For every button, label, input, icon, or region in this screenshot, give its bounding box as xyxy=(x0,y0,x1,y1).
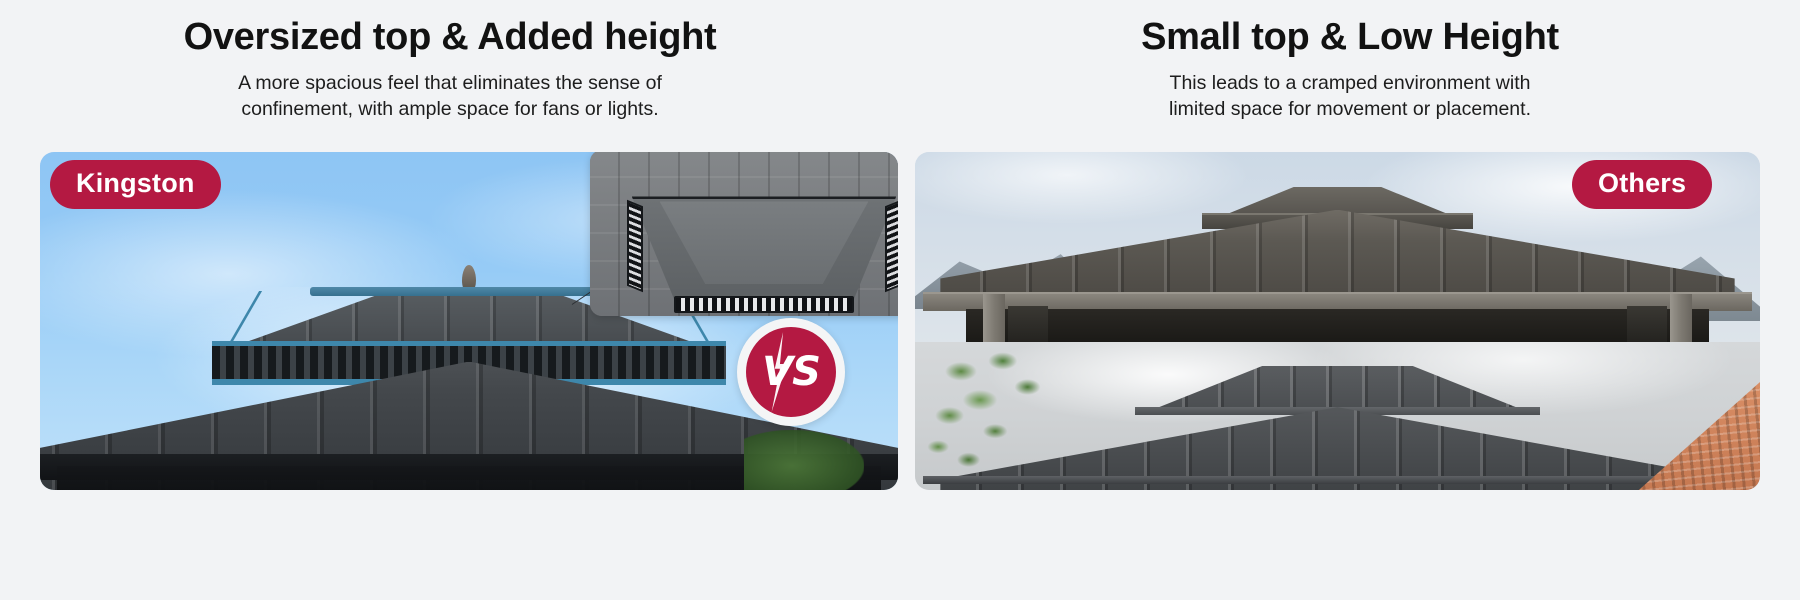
comparison-banner: Oversized top & Added height A more spac… xyxy=(0,0,1800,600)
competitor-underside xyxy=(966,309,1710,344)
louver-left xyxy=(627,200,643,293)
right-subtitle-line2: limited space for movement or placement. xyxy=(900,96,1800,122)
ridge-cap-trim xyxy=(310,287,627,296)
others-badge: Others xyxy=(1572,160,1712,209)
right-header: Small top & Low Height This leads to a c… xyxy=(900,0,1800,123)
vs-badge: VS xyxy=(737,318,845,426)
left-title: Oversized top & Added height xyxy=(0,18,900,58)
right-title: Small top & Low Height xyxy=(900,18,1800,58)
left-header: Oversized top & Added height A more spac… xyxy=(0,0,900,123)
competitor-post-right xyxy=(1670,294,1692,344)
ceiling-inset-image xyxy=(590,152,898,316)
right-subtitle: This leads to a cramped environment with… xyxy=(900,70,1800,123)
left-subtitle-line1: A more spacious feel that eliminates the… xyxy=(0,70,900,96)
foliage xyxy=(744,430,864,490)
right-subtitle-line1: This leads to a cramped environment with xyxy=(900,70,1800,96)
competitor-post-left xyxy=(983,294,1005,344)
left-subtitle-line2: confinement, with ample space for fans o… xyxy=(0,96,900,122)
louver-bottom xyxy=(674,296,855,313)
louver-right xyxy=(885,200,898,293)
left-subtitle: A more spacious feel that eliminates the… xyxy=(0,70,900,123)
competitor-curtain-right xyxy=(1627,306,1667,344)
competitor-image-bottom xyxy=(915,342,1760,490)
vs-label: VS xyxy=(737,318,845,426)
competitor2-eave xyxy=(923,476,1751,484)
competitor-curtain-left xyxy=(1008,306,1048,344)
kingston-badge: Kingston xyxy=(50,160,221,209)
